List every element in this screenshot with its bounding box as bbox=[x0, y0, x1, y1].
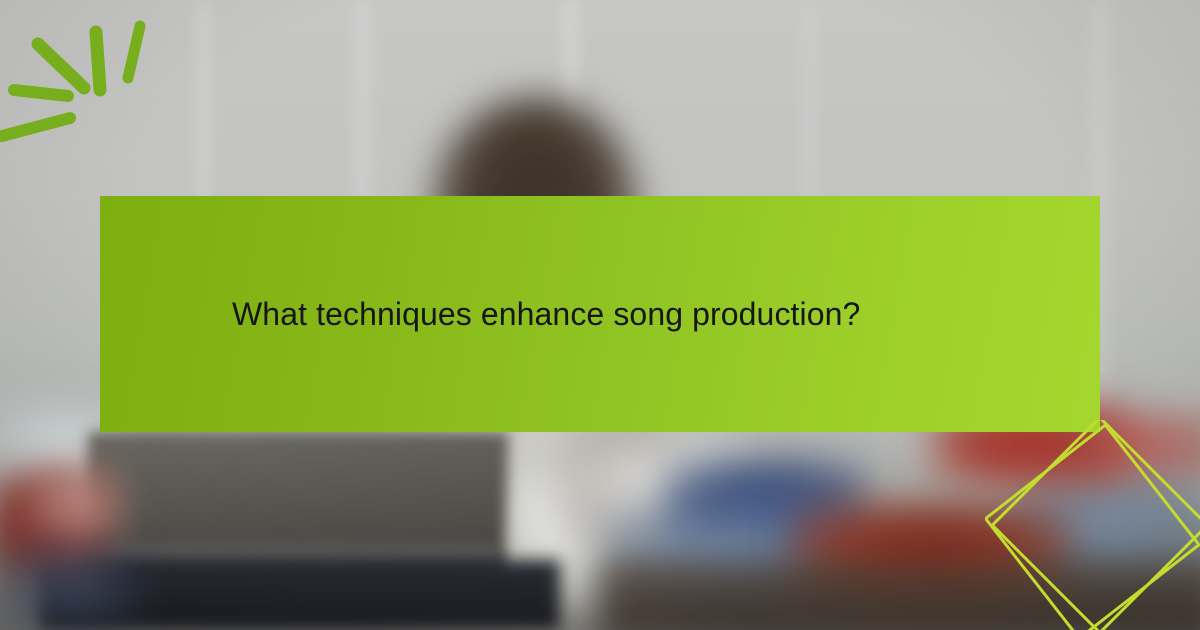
sunburst-stroke bbox=[128, 26, 140, 78]
headline-text: What techniques enhance song production? bbox=[232, 295, 860, 333]
sunburst-stroke bbox=[38, 44, 84, 88]
sunburst-stroke bbox=[96, 32, 100, 90]
headline-banner: What techniques enhance song production? bbox=[100, 196, 1100, 432]
sunburst-stroke bbox=[14, 90, 68, 96]
sunburst-stroke bbox=[2, 118, 70, 136]
sunburst-icon bbox=[0, 0, 190, 160]
share-card-canvas: What techniques enhance song production? bbox=[0, 0, 1200, 630]
